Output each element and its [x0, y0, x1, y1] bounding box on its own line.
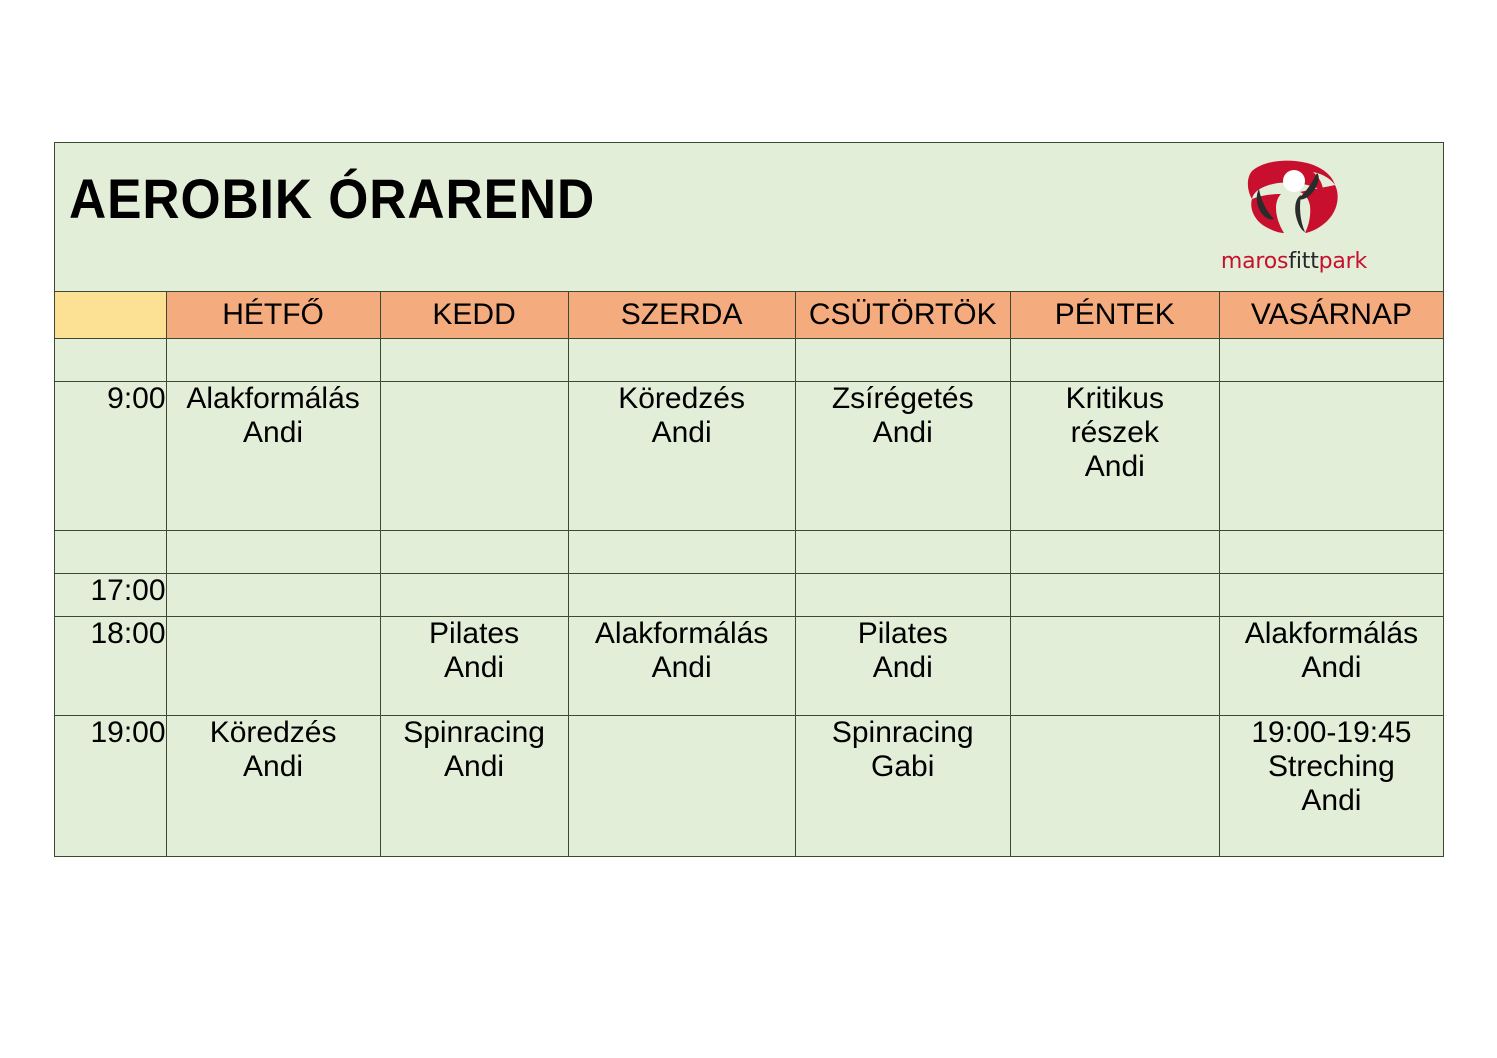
time-label-1900: 19:00	[55, 716, 167, 857]
logo-word-fitt: fitt	[1288, 249, 1318, 274]
logo-wordmark: marosfittpark	[1189, 251, 1399, 273]
slot-szerda	[568, 339, 795, 382]
slot-vasarnap	[1219, 339, 1443, 382]
slot-pentek-1900	[1010, 716, 1219, 857]
logo-word-maros: maros	[1221, 249, 1288, 274]
slot-hetfo-1700	[166, 574, 380, 617]
day-header-pentek: PÉNTEK	[1010, 292, 1219, 339]
slot-line: Andi	[1220, 784, 1443, 818]
slot-kedd-1700	[380, 574, 568, 617]
slot-line: 19:00-19:45	[1220, 716, 1443, 750]
slot-line: Andi	[796, 416, 1010, 450]
slot-line: Andi	[167, 416, 380, 450]
slot-kedd-1800: PilatesAndi	[380, 617, 568, 716]
slot-pentek	[1010, 531, 1219, 574]
title-banner: AEROBIK ÓRAREND	[55, 143, 1444, 292]
slot-szerda-900: KöredzésAndi	[568, 382, 795, 531]
slot-line: Andi	[381, 651, 568, 685]
slot-line: részek	[1011, 416, 1219, 450]
slot-line: Zsírégetés	[796, 382, 1010, 416]
day-header-vasarnap: VASÁRNAP	[1219, 292, 1443, 339]
slot-pentek	[1010, 339, 1219, 382]
title-row: AEROBIK ÓRAREND	[55, 143, 1444, 292]
slot-hetfo	[166, 531, 380, 574]
slot-kedd-1900: SpinracingAndi	[380, 716, 568, 857]
slot-hetfo-1800	[166, 617, 380, 716]
day-header-row: HÉTFŐ KEDD SZERDA CSÜTÖRTÖK PÉNTEK VASÁR…	[55, 292, 1444, 339]
slot-line: Alakformálás	[167, 382, 380, 416]
slot-line: Andi	[167, 750, 380, 784]
slot-line: Spinracing	[796, 716, 1010, 750]
schedule-row: 18:00PilatesAndiAlakformálásAndiPilatesA…	[55, 617, 1444, 716]
slot-kedd-900	[380, 382, 568, 531]
slot-pentek-1700	[1010, 574, 1219, 617]
slot-csutortok-1900: SpinracingGabi	[795, 716, 1010, 857]
slot-line: Andi	[569, 651, 795, 685]
day-header-hetfo: HÉTFŐ	[166, 292, 380, 339]
page-title: AEROBIK ÓRAREND	[69, 171, 595, 227]
slot-hetfo-1900: KöredzésAndi	[166, 716, 380, 857]
slot-szerda-1900	[568, 716, 795, 857]
slot-vasarnap	[1219, 531, 1443, 574]
aerobics-schedule-table: AEROBIK ÓRAREND	[54, 142, 1444, 857]
slot-line: Andi	[796, 651, 1010, 685]
slot-hetfo	[166, 339, 380, 382]
time-label-empty	[55, 339, 167, 382]
schedule-body: AEROBIK ÓRAREND	[55, 143, 1444, 857]
time-label-900: 9:00	[55, 382, 167, 531]
slot-csutortok	[795, 339, 1010, 382]
slot-hetfo-900: AlakformálásAndi	[166, 382, 380, 531]
schedule-row	[55, 531, 1444, 574]
slot-kedd	[380, 339, 568, 382]
slot-csutortok-1700	[795, 574, 1010, 617]
time-label-1800: 18:00	[55, 617, 167, 716]
corner-cell	[55, 292, 167, 339]
slot-line: Köredzés	[167, 716, 380, 750]
slot-line: Pilates	[381, 617, 568, 651]
schedule-row: 19:00KöredzésAndiSpinracingAndiSpinracin…	[55, 716, 1444, 857]
logo-word-park: park	[1319, 249, 1367, 274]
slot-csutortok	[795, 531, 1010, 574]
marosfittpark-logo: marosfittpark	[1189, 159, 1399, 277]
slot-szerda-1700	[568, 574, 795, 617]
schedule-table-container: AEROBIK ÓRAREND	[54, 142, 1444, 857]
slot-kedd	[380, 531, 568, 574]
slot-szerda	[568, 531, 795, 574]
slot-line: Spinracing	[381, 716, 568, 750]
day-header-szerda: SZERDA	[568, 292, 795, 339]
slot-csutortok-1800: PilatesAndi	[795, 617, 1010, 716]
slot-line: Gabi	[796, 750, 1010, 784]
slot-line: Andi	[381, 750, 568, 784]
schedule-row: 17:00	[55, 574, 1444, 617]
time-label-empty	[55, 531, 167, 574]
schedule-row	[55, 339, 1444, 382]
slot-pentek-900: KritikusrészekAndi	[1010, 382, 1219, 531]
slot-vasarnap-1900: 19:00-19:45StrechingAndi	[1219, 716, 1443, 857]
slot-line: Andi	[1011, 450, 1219, 484]
slot-line: Alakformálás	[1220, 617, 1443, 651]
slot-line: Andi	[569, 416, 795, 450]
slot-vasarnap-1800: AlakformálásAndi	[1219, 617, 1443, 716]
schedule-row: 9:00AlakformálásAndiKöredzésAndiZsíréget…	[55, 382, 1444, 531]
slot-vasarnap-1700	[1219, 574, 1443, 617]
slot-vasarnap-900	[1219, 382, 1443, 531]
slot-line: Streching	[1220, 750, 1443, 784]
day-header-csutortok: CSÜTÖRTÖK	[795, 292, 1010, 339]
slot-line: Kritikus	[1011, 382, 1219, 416]
slot-line: Alakformálás	[569, 617, 795, 651]
slot-line: Köredzés	[569, 382, 795, 416]
schedule-page: AEROBIK ÓRAREND	[0, 0, 1497, 1058]
slot-pentek-1800	[1010, 617, 1219, 716]
slot-line: Pilates	[796, 617, 1010, 651]
slot-szerda-1800: AlakformálásAndi	[568, 617, 795, 716]
time-label-1700: 17:00	[55, 574, 167, 617]
day-header-kedd: KEDD	[380, 292, 568, 339]
logo-figure-icon	[1239, 159, 1349, 237]
slot-line: Andi	[1220, 651, 1443, 685]
slot-csutortok-900: ZsírégetésAndi	[795, 382, 1010, 531]
